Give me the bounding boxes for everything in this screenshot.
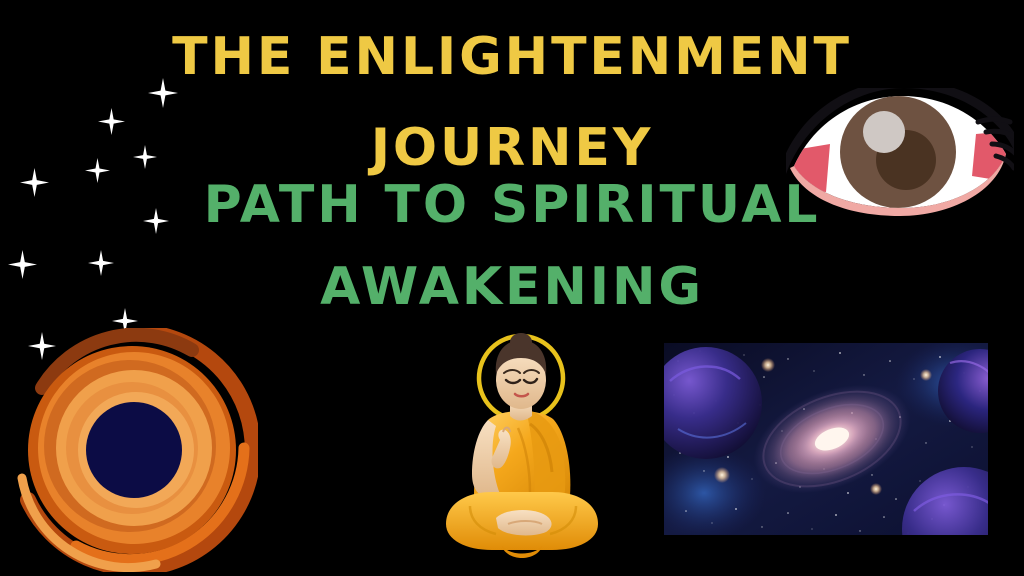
galaxy-image <box>664 343 988 535</box>
vortex-icon <box>6 328 258 572</box>
page-title-line-1: THE ENLIGHTENMENT <box>0 31 1024 83</box>
third-eye-illustration <box>786 88 1014 216</box>
orange-spiral-vortex <box>6 328 258 572</box>
buddha-icon <box>430 328 612 564</box>
page-subtitle-line-2: AWAKENING <box>0 261 1024 313</box>
meditating-buddha <box>430 328 612 564</box>
poster-canvas: THE ENLIGHTENMENT JOURNEY PATH TO SPIRIT… <box>0 0 1024 576</box>
spiral-galaxy-photo <box>664 343 988 535</box>
eye-icon <box>786 88 1014 216</box>
